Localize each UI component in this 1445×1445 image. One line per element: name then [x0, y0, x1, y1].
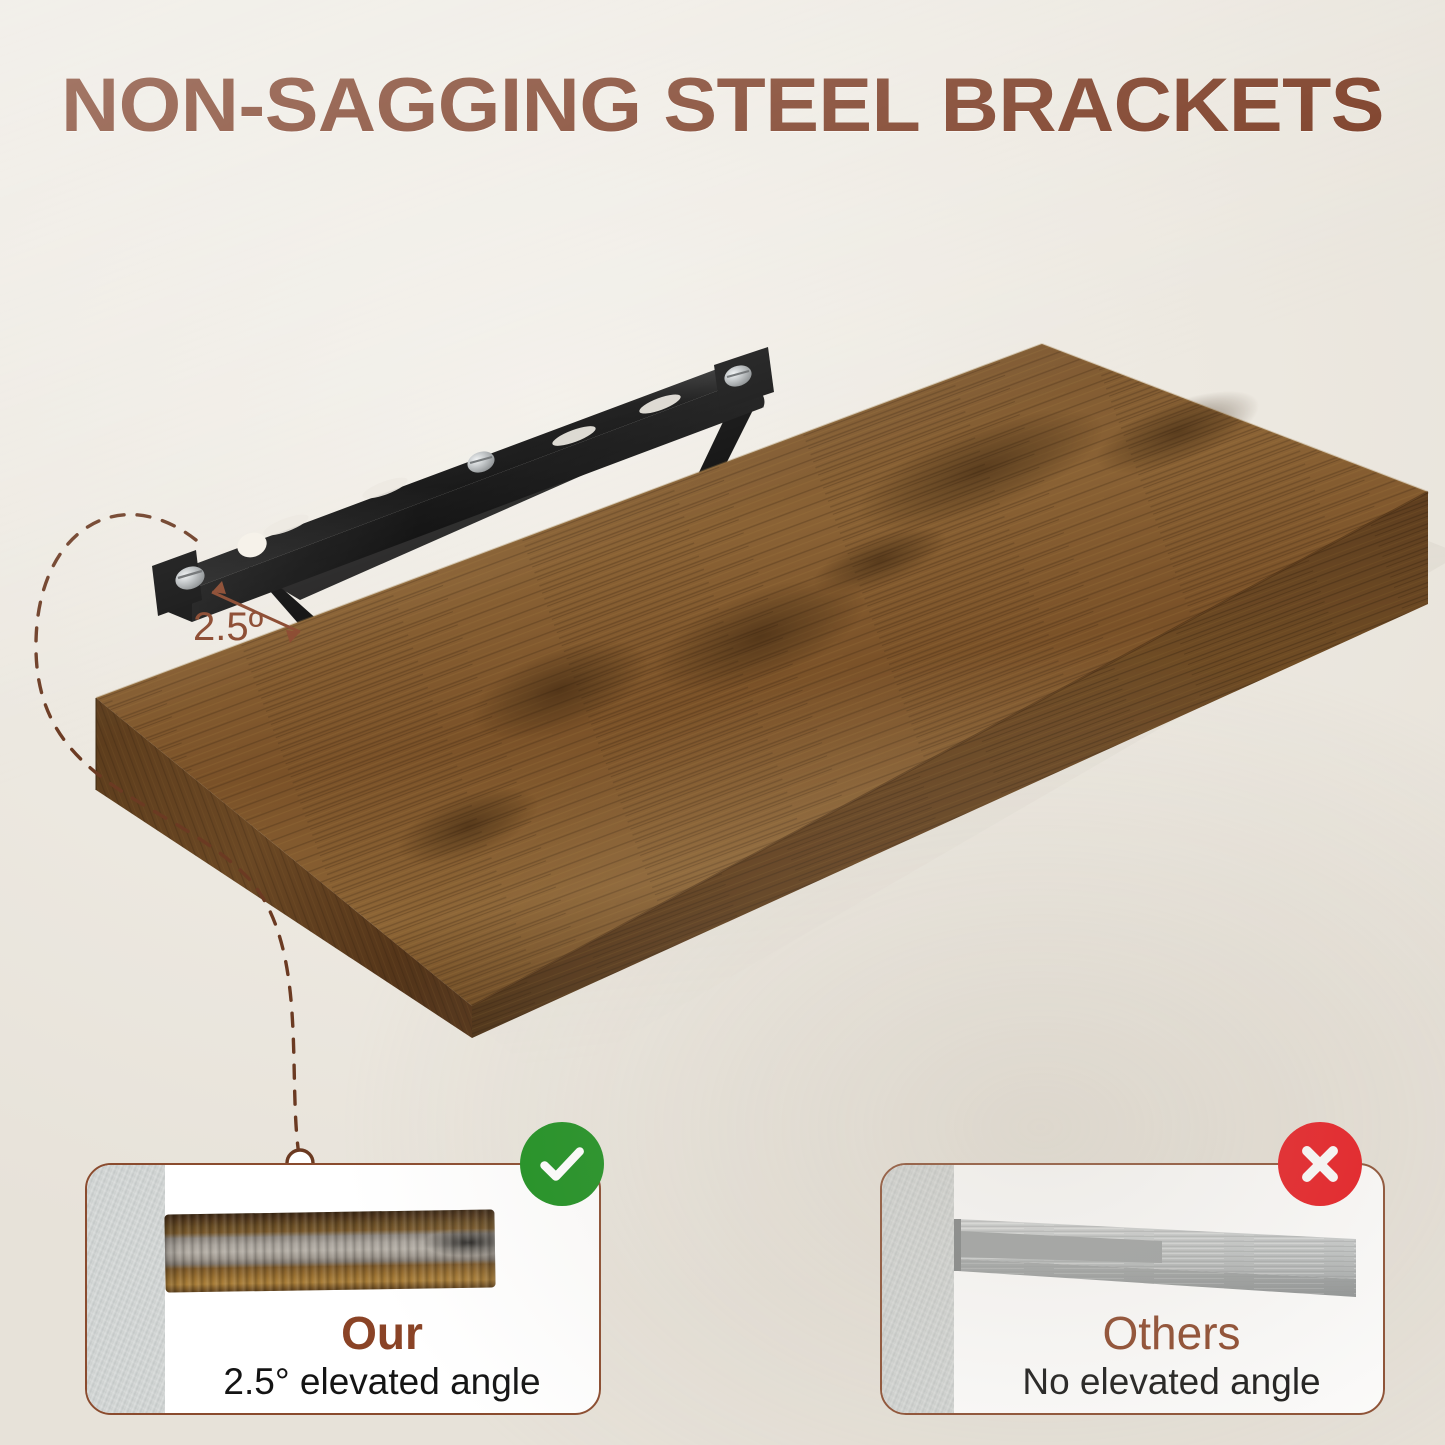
panel-title-others: Others: [960, 1310, 1383, 1357]
wall-texture-strip: [882, 1165, 954, 1413]
steel-bracket: [152, 347, 774, 630]
floating-shelf: [96, 344, 1428, 1038]
panel-subtitle-others: No elevated angle: [960, 1361, 1383, 1404]
check-icon: [520, 1122, 604, 1206]
comparison-panel-our: Our 2.5° elevated angle: [85, 1163, 601, 1415]
page-title: NON-SAGGING STEEL BRACKETS: [0, 62, 1445, 149]
marketing-image-canvas: NON-SAGGING STEEL BRACKETS: [0, 0, 1445, 1445]
sagging-shelf-sample: [954, 1201, 1374, 1319]
shelf-cutaway-sample: [164, 1209, 495, 1292]
panel-title-our: Our: [165, 1310, 599, 1357]
wall-texture-strip: [87, 1165, 165, 1413]
cross-icon: [1278, 1122, 1362, 1206]
bracket-screw: [172, 362, 755, 594]
shelf-shadow: [144, 364, 1445, 1084]
angle-label: 2.5º: [193, 605, 263, 650]
panel-subtitle-our: 2.5° elevated angle: [165, 1361, 599, 1404]
